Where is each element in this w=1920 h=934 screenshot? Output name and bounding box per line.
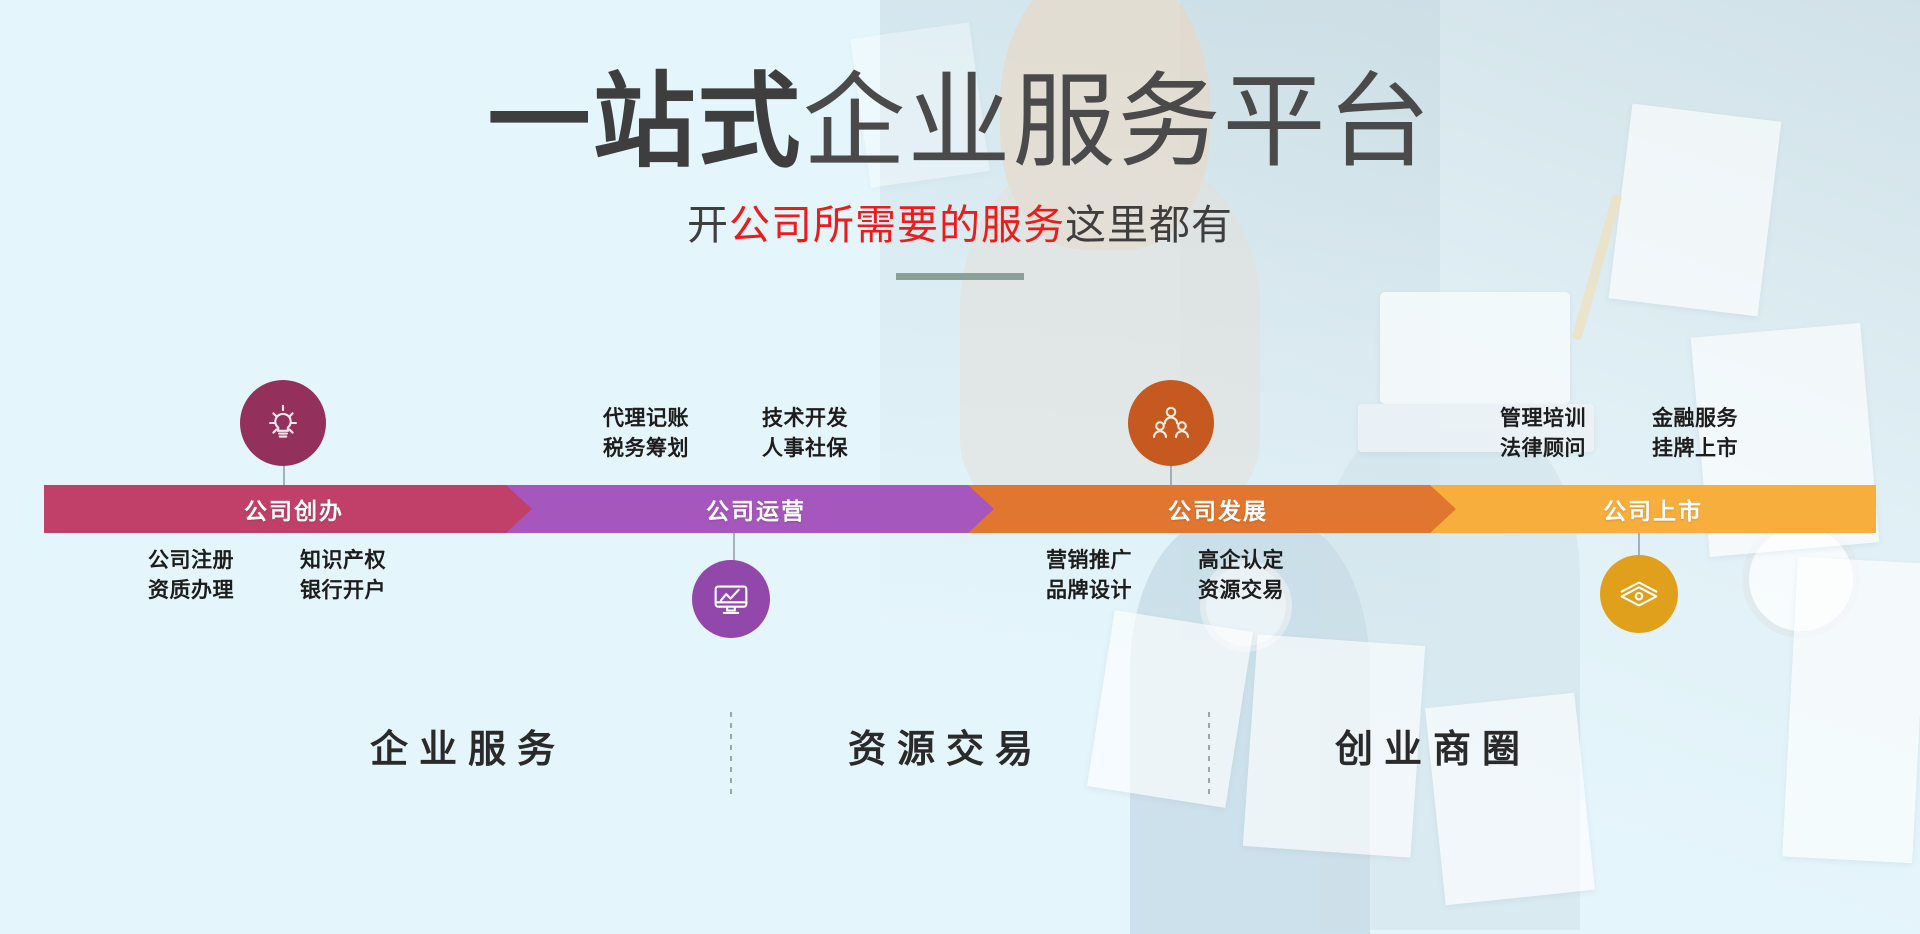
team-people-icon: [1147, 399, 1195, 447]
stage-3-tags-group-2: 高企认定 资源交易: [1198, 546, 1284, 606]
timeline-stage-3[interactable]: 公司发展: [968, 485, 1468, 533]
tag-text: 品牌设计: [1046, 576, 1132, 606]
badge-stage-2[interactable]: [692, 560, 770, 638]
stage-2-label: 公司运营: [706, 492, 806, 526]
stage-3-tags-group-1: 营销推广 品牌设计: [1046, 546, 1132, 606]
stage-4-tags-group-2: 金融服务 挂牌上市: [1652, 404, 1738, 464]
stage-4-label: 公司上市: [1603, 492, 1703, 526]
tag-text: 税务筹划: [603, 434, 689, 464]
tag-text: 资源交易: [1198, 576, 1284, 606]
tag-text: 资质办理: [148, 576, 234, 606]
process-timeline: 公司创办 公司运营 公司发展 公司上市: [44, 485, 1876, 533]
laptop-screen: [1380, 292, 1570, 404]
tag-text: 营销推广: [1046, 546, 1132, 576]
category-divider-2: [1208, 712, 1210, 798]
money-stack-icon: [1616, 571, 1662, 617]
tag-text: 法律顾问: [1500, 434, 1586, 464]
tag-text: 人事社保: [762, 434, 848, 464]
coffee-cup-shape: [1742, 520, 1860, 638]
stage-3-label: 公司发展: [1168, 492, 1268, 526]
tag-text: 技术开发: [762, 404, 848, 434]
category-enterprise-service[interactable]: 企业服务: [370, 718, 566, 773]
tag-text: 挂牌上市: [1652, 434, 1738, 464]
category-divider-1: [730, 712, 732, 798]
badge-stage-1[interactable]: [240, 380, 326, 466]
category-startup-circle[interactable]: 创业商圈: [1335, 718, 1531, 773]
stage-1-label: 公司创办: [244, 492, 344, 526]
hero-heading: 一站式企业服务平台 开公司所需要的服务这里都有: [0, 66, 1920, 280]
stage-1-tags-group-1: 公司注册 资质办理: [148, 546, 234, 606]
timeline-stage-4[interactable]: 公司上市: [1430, 485, 1876, 533]
subtitle-prefix: 开: [687, 202, 729, 248]
title-underline-rule: [896, 273, 1024, 280]
tag-text: 银行开户: [300, 576, 386, 606]
page-title-strong: 一站式: [488, 64, 803, 179]
stage-1-tags-group-2: 知识产权 银行开户: [300, 546, 386, 606]
badge-stage-3[interactable]: [1128, 380, 1214, 466]
subtitle-suffix: 这里都有: [1065, 202, 1233, 248]
page-title-light: 企业服务平台: [803, 64, 1433, 179]
tag-text: 高企认定: [1198, 546, 1284, 576]
stage-2-tags-group-1: 代理记账 税务筹划: [603, 404, 689, 464]
badge-stage-4[interactable]: [1600, 555, 1678, 633]
tag-text: 金融服务: [1652, 404, 1738, 434]
paper-sheet: [1087, 610, 1253, 808]
page-title: 一站式企业服务平台: [0, 66, 1920, 177]
monitor-chart-icon: [708, 576, 754, 622]
subtitle-highlight: 公司所需要的服务: [729, 202, 1065, 248]
timeline-stage-2[interactable]: 公司运营: [506, 485, 1006, 533]
category-resource-trade[interactable]: 资源交易: [848, 718, 1044, 773]
page-subtitle: 开公司所需要的服务这里都有: [0, 191, 1920, 251]
tag-text: 知识产权: [300, 546, 386, 576]
timeline-stage-1[interactable]: 公司创办: [44, 485, 544, 533]
stage-4-tags-group-1: 管理培训 法律顾问: [1500, 404, 1586, 464]
tag-text: 公司注册: [148, 546, 234, 576]
tag-text: 代理记账: [603, 404, 689, 434]
paper-sheet: [1782, 557, 1920, 863]
stage-2-tags-group-2: 技术开发 人事社保: [762, 404, 848, 464]
tag-text: 管理培训: [1500, 404, 1586, 434]
lightbulb-icon: [260, 400, 306, 446]
poster-canvas: 一站式企业服务平台 开公司所需要的服务这里都有 公司创办 公司运营 公司发展 公…: [0, 0, 1920, 934]
